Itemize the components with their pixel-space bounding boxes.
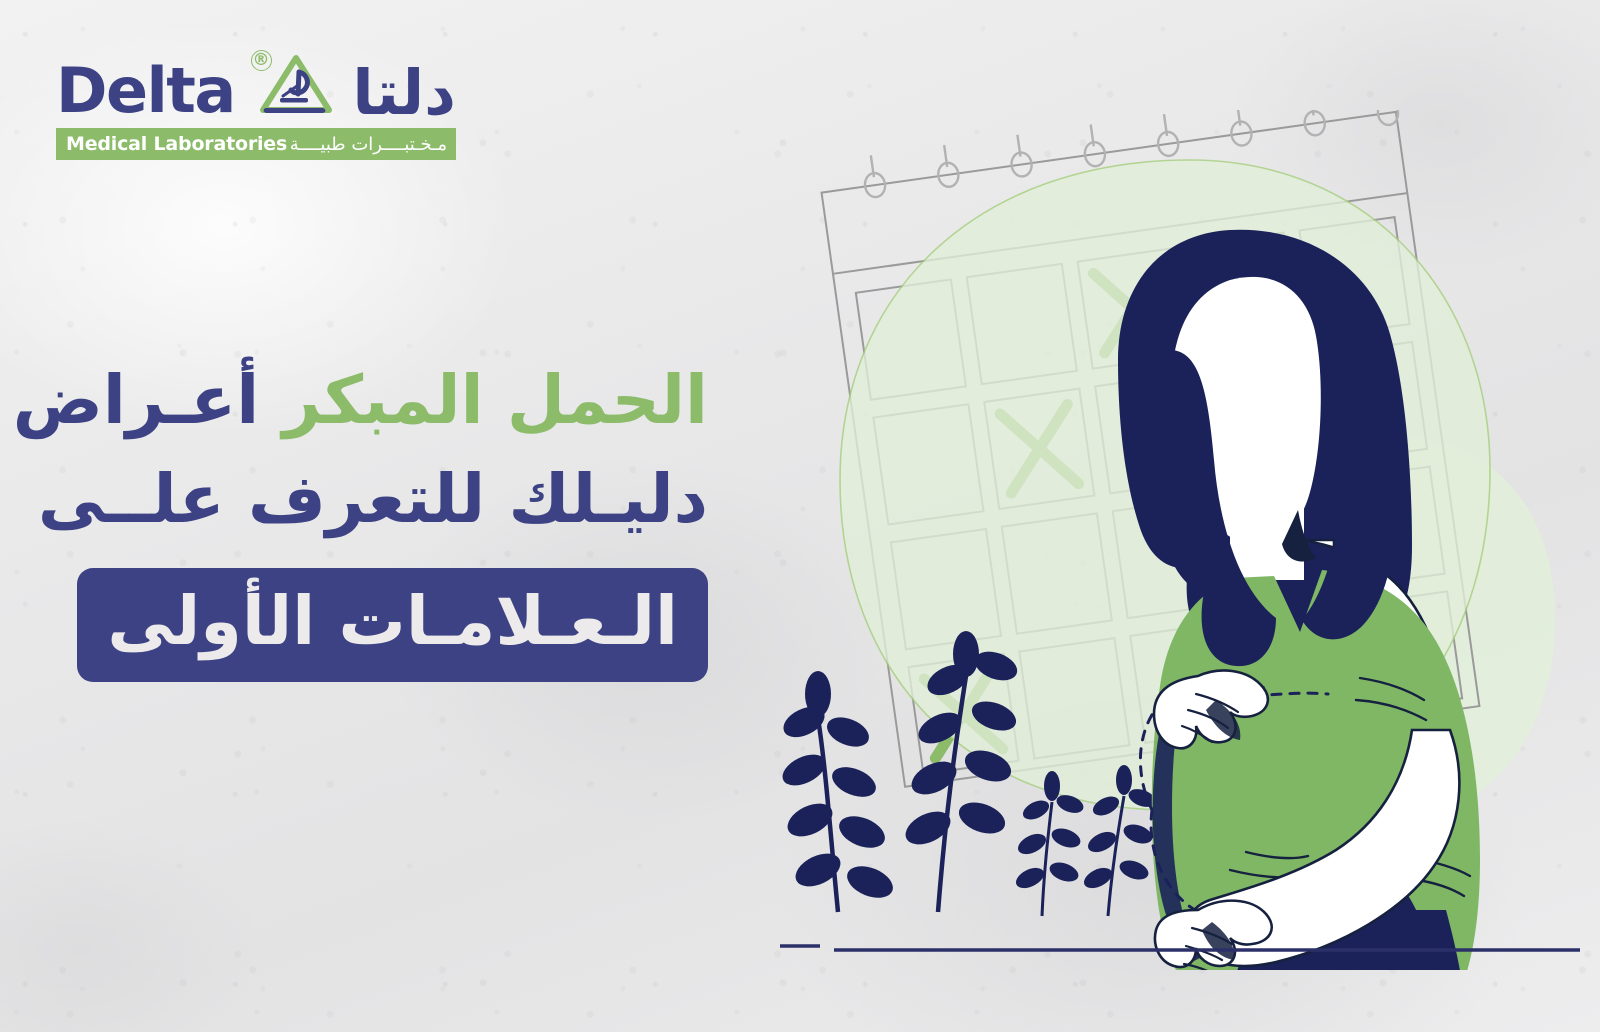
headline-line-2: دليـلك للتعرف علــى: [13, 448, 708, 550]
logo-tagline-en: Medical Laboratories: [66, 133, 287, 155]
headline-line-1-navy: أعـراض: [13, 361, 259, 439]
microscope-in-triangle-icon: ®: [255, 52, 333, 122]
headline-badge-label: الـعـلامـات الأولى: [107, 582, 678, 660]
headline-block: الحمل المبكر أعـراض دليـلك للتعرف علــى …: [13, 352, 708, 682]
logo-wordmark-row: Delta ® دلتا: [56, 48, 456, 122]
logo-name-ar: دلتا: [352, 64, 456, 122]
poster-canvas: Delta ® دلتا Medical Laboratories مـخـتب…: [0, 0, 1600, 1032]
logo-tagline-bar: Medical Laboratories مـخـتبــــرات طبيــ…: [56, 128, 456, 160]
logo-tagline-ar: مـخـتبــــرات طبيــــة: [290, 134, 447, 155]
headline-badge: الـعـلامـات الأولى: [77, 568, 708, 682]
headline-line-1-green: الحمل المبكر: [283, 361, 709, 439]
headline-line-1: الحمل المبكر أعـراض: [13, 352, 708, 448]
plant-1: [778, 671, 898, 912]
brand-logo[interactable]: Delta ® دلتا Medical Laboratories مـخـتب…: [56, 48, 456, 160]
logo-name-en: Delta: [56, 60, 235, 122]
pregnant-woman-with-calendar-illustration: [760, 110, 1600, 970]
